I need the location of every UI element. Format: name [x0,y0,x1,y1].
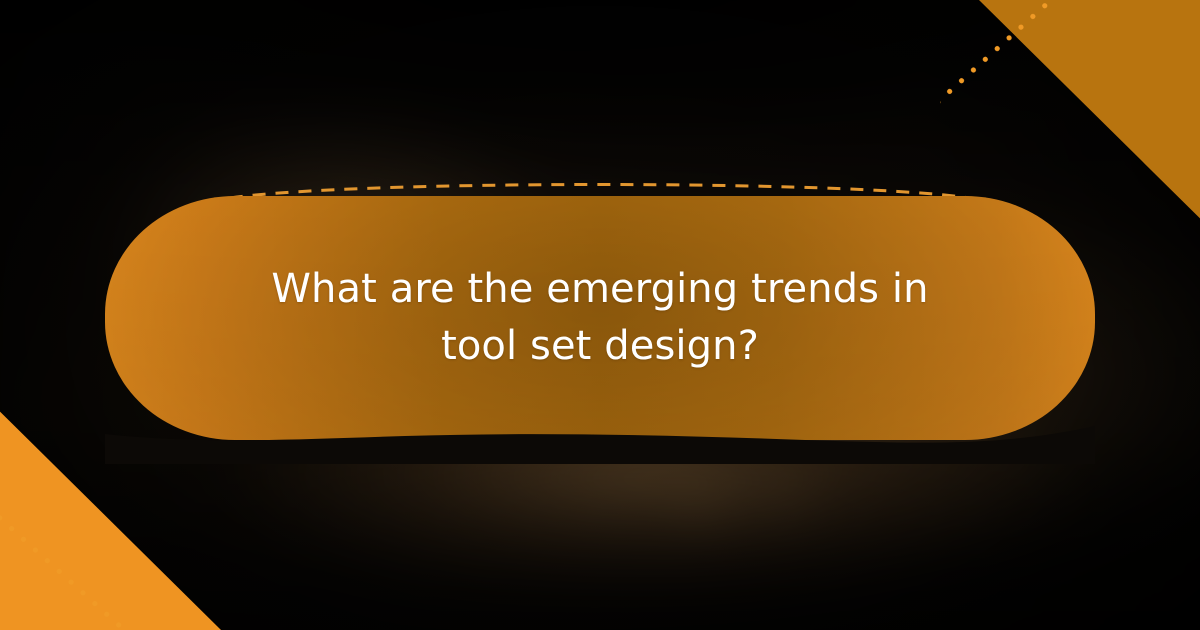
question-text-value: What are the emerging trends in tool set… [250,261,950,375]
question-card-graphic: What are the emerging trends in tool set… [0,0,1200,630]
question-text: What are the emerging trends in tool set… [155,196,1045,440]
